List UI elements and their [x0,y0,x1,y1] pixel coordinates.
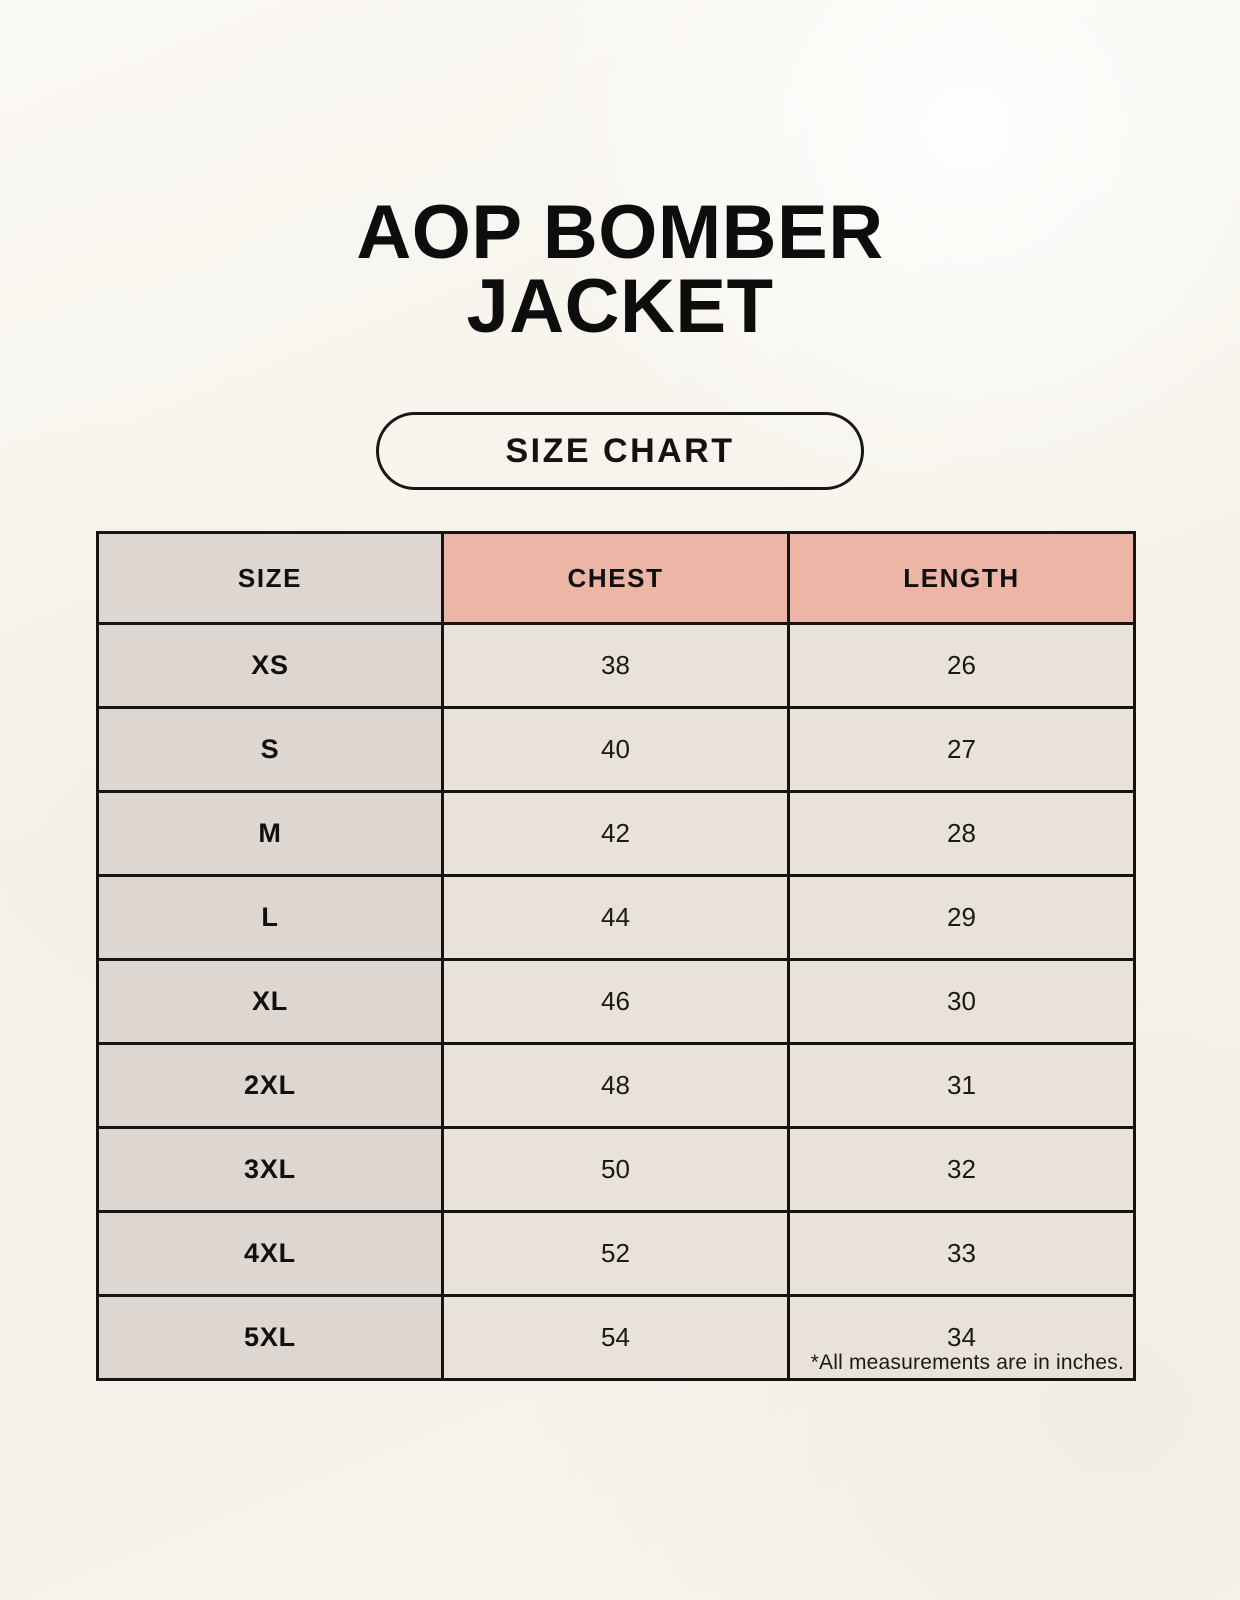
size-chart-table: SIZE CHEST LENGTH XS 38 26 S 40 27 M [96,531,1136,1381]
table-row: L 44 29 [98,876,1135,960]
column-header-size: SIZE [98,533,443,624]
cell-chest: 44 [443,876,789,960]
page-title-line-1: AOP BOMBER [0,196,1240,270]
cell-length: 26 [789,624,1135,708]
cell-size: 3XL [98,1128,443,1212]
table-row: 3XL 50 32 [98,1128,1135,1212]
size-chart-table-wrap: SIZE CHEST LENGTH XS 38 26 S 40 27 M [96,531,1124,1381]
cell-chest: 38 [443,624,789,708]
cell-length: 28 [789,792,1135,876]
cell-length: 29 [789,876,1135,960]
cell-chest: 46 [443,960,789,1044]
table-row: XL 46 30 [98,960,1135,1044]
cell-length: 31 [789,1044,1135,1128]
table-row: S 40 27 [98,708,1135,792]
table-row: 4XL 52 33 [98,1212,1135,1296]
size-chart-table-body: XS 38 26 S 40 27 M 42 28 L 44 29 [98,624,1135,1380]
column-header-length: LENGTH [789,533,1135,624]
cell-size: 2XL [98,1044,443,1128]
size-chart-badge-wrap: SIZE CHART [0,412,1240,490]
column-header-chest: CHEST [443,533,789,624]
cell-chest: 50 [443,1128,789,1212]
measurements-note: *All measurements are in inches. [96,1351,1124,1375]
size-chart-badge-label: SIZE CHART [506,432,735,471]
page-title: AOP BOMBER JACKET [0,196,1240,343]
page-title-line-2: JACKET [0,270,1240,344]
cell-size: 4XL [98,1212,443,1296]
cell-chest: 52 [443,1212,789,1296]
table-row: 2XL 48 31 [98,1044,1135,1128]
size-chart-badge: SIZE CHART [376,412,864,490]
cell-length: 33 [789,1212,1135,1296]
cell-chest: 42 [443,792,789,876]
cell-size: S [98,708,443,792]
cell-chest: 40 [443,708,789,792]
cell-size: XS [98,624,443,708]
cell-length: 27 [789,708,1135,792]
table-row: M 42 28 [98,792,1135,876]
cell-size: M [98,792,443,876]
table-row: XS 38 26 [98,624,1135,708]
cell-chest: 48 [443,1044,789,1128]
size-chart-page: AOP BOMBER JACKET SIZE CHART SIZE CHEST … [0,0,1240,1600]
size-chart-table-head: SIZE CHEST LENGTH [98,533,1135,624]
table-header-row: SIZE CHEST LENGTH [98,533,1135,624]
cell-length: 30 [789,960,1135,1044]
cell-size: XL [98,960,443,1044]
cell-length: 32 [789,1128,1135,1212]
cell-size: L [98,876,443,960]
